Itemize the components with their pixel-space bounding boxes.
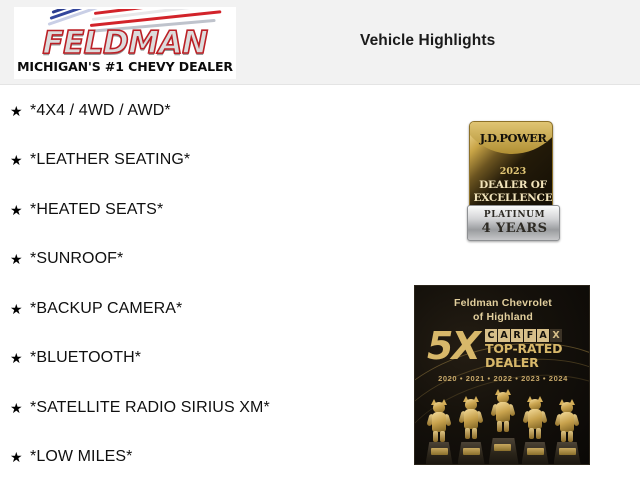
star-bullet-icon: ★ — [10, 153, 30, 167]
trophy-icon — [521, 399, 550, 464]
vehicle-highlights-page: FELDMAN MICHIGAN'S #1 CHEVY DEALER Vehic… — [0, 0, 640, 480]
vehicle-highlights-list: ★ *4X4 / 4WD / AWD* ★ *LEATHER SEATING* … — [0, 86, 400, 480]
carfax-award-years: 2020 • 2021 • 2022 • 2023 • 2024 — [415, 374, 590, 383]
carfax-trophy-row — [424, 388, 582, 464]
list-item: ★ *4X4 / 4WD / AWD* — [0, 86, 400, 136]
jd-power-base: PLATINUM 4 YEARS — [467, 205, 560, 241]
jd-power-plate: J.D.POWER 2023 DEALER OF EXCELLENCE — [469, 121, 553, 214]
carfax-dealer-name: Feldman Chevrolet of Highland — [415, 296, 590, 324]
trophy-icon — [457, 399, 486, 464]
star-bullet-icon: ★ — [10, 351, 30, 365]
list-item-label: *BLUETOOTH* — [30, 349, 141, 367]
list-item: ★ *BLUETOOTH* — [0, 334, 400, 384]
jd-power-duration-label: 4 YEARS — [468, 221, 561, 236]
logo-wordmark: FELDMAN — [18, 27, 232, 59]
carfax-dealer-line-2: of Highland — [415, 310, 590, 324]
star-bullet-icon: ★ — [10, 203, 30, 217]
list-item-label: *BACKUP CAMERA* — [30, 300, 182, 318]
carfax-multiplier: 5X — [427, 325, 479, 367]
list-item: ★ *LOW MILES* — [0, 433, 400, 480]
list-item: ★ *HEATED SEATS* — [0, 185, 400, 235]
carfax-award-block: 5X C A R F A X TOP-RATED DEALER — [427, 329, 583, 371]
list-item-label: *LOW MILES* — [30, 448, 132, 466]
trophy-icon — [425, 402, 454, 464]
star-bullet-icon: ★ — [10, 302, 30, 316]
list-item-label: *4X4 / 4WD / AWD* — [30, 102, 171, 120]
list-item-label: *LEATHER SEATING* — [30, 151, 190, 169]
jd-power-award-line-2: EXCELLENCE — [470, 192, 553, 204]
carfax-dealer-line-1: Feldman Chevrolet — [415, 296, 590, 310]
trophy-icon — [553, 402, 582, 464]
star-bullet-icon: ★ — [10, 104, 30, 118]
page-header: FELDMAN MICHIGAN'S #1 CHEVY DEALER Vehic… — [0, 0, 640, 85]
jd-power-tier-label: PLATINUM — [468, 210, 561, 220]
list-item: ★ *SATELLITE RADIO SIRIUS XM* — [0, 383, 400, 433]
list-item-label: *HEATED SEATS* — [30, 201, 163, 219]
list-item-label: *SATELLITE RADIO SIRIUS XM* — [30, 399, 270, 417]
jd-power-award-line-1: DEALER OF — [470, 179, 553, 191]
star-bullet-icon: ★ — [10, 401, 30, 415]
list-item: ★ *BACKUP CAMERA* — [0, 284, 400, 334]
page-title: Vehicle Highlights — [360, 32, 495, 50]
carfax-top-rated-dealer-badge: Feldman Chevrolet of Highland 5X C A R F… — [414, 285, 590, 465]
jd-power-award-badge: J.D.POWER 2023 DEALER OF EXCELLENCE PLAT… — [467, 121, 560, 241]
star-bullet-icon: ★ — [10, 450, 30, 464]
carfax-dealer-label: DEALER — [485, 356, 583, 370]
star-bullet-icon: ★ — [10, 252, 30, 266]
feldman-dealer-logo[interactable]: FELDMAN MICHIGAN'S #1 CHEVY DEALER — [14, 7, 236, 79]
logo-tagline: MICHIGAN'S #1 CHEVY DEALER — [14, 59, 236, 74]
list-item: ★ *SUNROOF* — [0, 235, 400, 285]
list-item-label: *SUNROOF* — [30, 250, 123, 268]
list-item: ★ *LEATHER SEATING* — [0, 136, 400, 186]
jd-power-year: 2023 — [470, 166, 553, 177]
carfax-top-rated-label: TOP-RATED — [485, 342, 583, 356]
jd-power-brand-label: J.D.POWER — [470, 131, 553, 145]
trophy-icon — [489, 392, 518, 464]
